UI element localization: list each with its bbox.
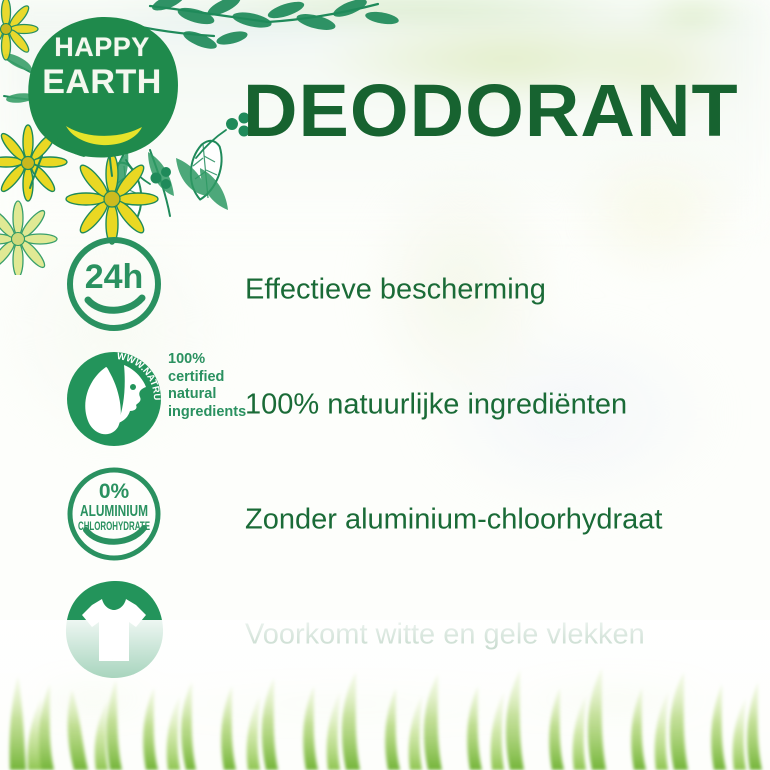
natrue-caption-line3: natural bbox=[168, 386, 250, 404]
svg-text:0%: 0% bbox=[99, 480, 130, 503]
natrue-caption-line2: certified bbox=[168, 369, 250, 387]
page-title: DEODORANT bbox=[243, 74, 739, 148]
svg-text:24h: 24h bbox=[85, 258, 144, 296]
product-feature-poster: HAPPY EARTH DEODORANT 24h Effectieve bes… bbox=[0, 0, 770, 770]
brand-logo-text: HAPPY EARTH bbox=[22, 14, 182, 160]
natrue-certified-seal-icon: WWW.NATRUE.ORG bbox=[62, 347, 166, 451]
natrue-caption-line4: ingredients bbox=[168, 404, 250, 422]
svg-text:ALUMINIUM: ALUMINIUM bbox=[80, 503, 148, 520]
feature-row: 24h Effectieve bescherming bbox=[0, 232, 770, 347]
feature-row: 0% ALUMINIUM CHLOROHYDRATE Zonder alumin… bbox=[0, 462, 770, 577]
brand-logo: HAPPY EARTH bbox=[22, 14, 182, 160]
natrue-caption-line1: 100% bbox=[168, 351, 250, 369]
feature-row: WWW.NATRUE.ORG 100% certified natural in… bbox=[0, 347, 770, 462]
grass-decoration bbox=[0, 580, 770, 770]
zero-aluminium-circle-badge-icon: 0% ALUMINIUM CHLOROHYDRATE bbox=[62, 462, 166, 566]
svg-text:CHLOROHYDRATE: CHLOROHYDRATE bbox=[78, 521, 150, 533]
brand-logo-line2: EARTH bbox=[42, 65, 162, 99]
feature-text: Effectieve bescherming bbox=[245, 273, 546, 306]
feature-text: Zonder aluminium-chloorhydraat bbox=[245, 503, 662, 536]
feature-text: 100% natuurlijke ingrediënten bbox=[245, 388, 627, 421]
24h-circle-badge-icon: 24h bbox=[62, 232, 166, 336]
brand-logo-line1: HAPPY bbox=[54, 34, 150, 61]
natrue-caption: 100% certified natural ingredients bbox=[168, 351, 250, 422]
